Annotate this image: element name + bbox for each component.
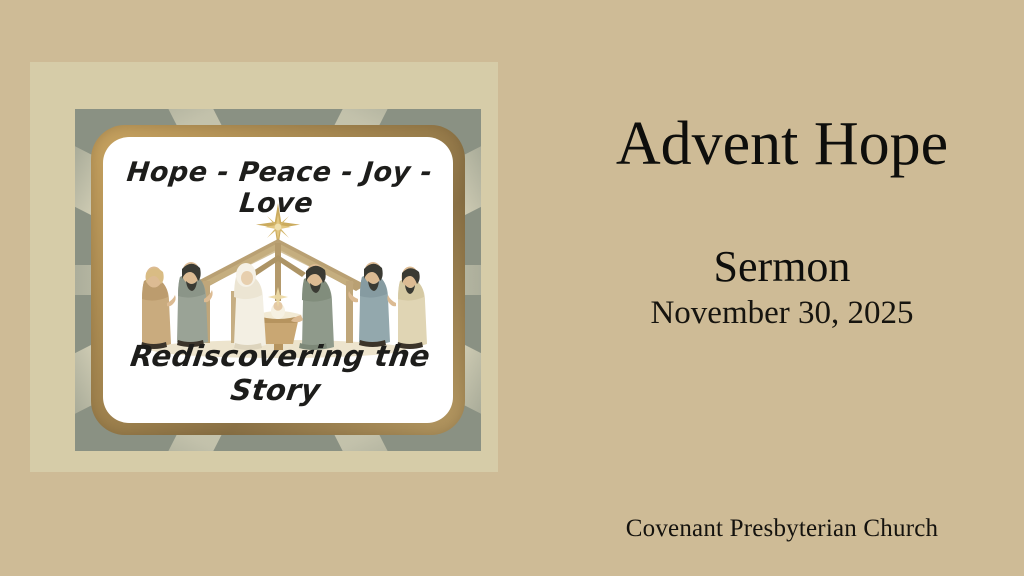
church-name: Covenant Presbyterian Church [540, 515, 1024, 543]
nativity-card: Hope - Peace - Joy - Love [103, 137, 453, 423]
figure-magi-right-inner [348, 262, 390, 347]
text-column: Advent Hope Sermon November 30, 2025 Cov… [540, 0, 1024, 576]
artwork-bottom-caption: Rediscovering the Story [103, 339, 453, 407]
slide-date: November 30, 2025 [540, 295, 1024, 333]
subtitle-block: Sermon November 30, 2025 [540, 243, 1024, 333]
figure-magi-right-outer [387, 267, 427, 350]
artwork-outer-frame: Hope - Peace - Joy - Love [30, 62, 498, 472]
sermon-slide: Hope - Peace - Joy - Love [0, 0, 1024, 576]
figure-joseph [291, 264, 334, 350]
slide-title: Advent Hope [540, 112, 1024, 177]
figure-shepherd-left-outer [141, 267, 176, 350]
artwork-border: Hope - Peace - Joy - Love [75, 109, 481, 451]
figure-mary [234, 263, 266, 350]
slide-subtitle: Sermon [540, 243, 1024, 291]
